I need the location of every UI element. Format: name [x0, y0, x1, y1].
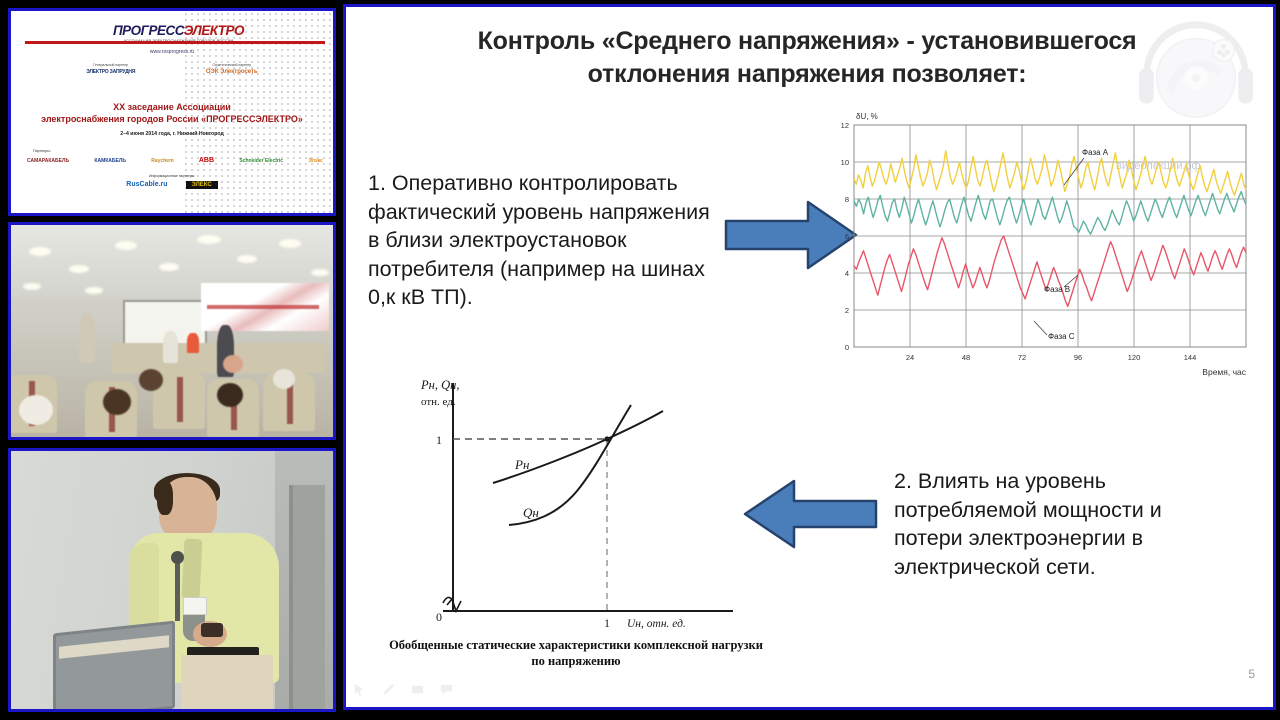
- general-partner-logo: ЭЛЕКТРО ЗАПРУДНЯ: [86, 69, 135, 75]
- hall-seating: [11, 359, 333, 437]
- svg-text:6: 6: [845, 232, 849, 241]
- annotation-phase-a: Фаза А: [1082, 148, 1109, 157]
- poster-website: www.rosprogress.ru: [11, 49, 333, 55]
- poster-info-partner-logos: RusCable.ru ЭЛЕКС: [11, 181, 333, 189]
- static-y-tick-1: 1: [436, 433, 442, 447]
- poster-partners-label: Партнеры:: [33, 149, 51, 153]
- partner-logo-4: Schneider Electric: [239, 158, 283, 164]
- info-partner-logo-1: ЭЛЕКС: [186, 181, 218, 189]
- screen-root: ПРОГРЕССЭЛЕКТРО АССОЦИАЦИЯ ЭЛЕКТРОСНАБЖЕ…: [0, 0, 1280, 720]
- poster-top-partners: Генеральный партнер ЭЛЕКТРО ЗАПРУДНЯ Стр…: [11, 63, 333, 75]
- strategic-partner-logo: ОЭК Электросеть: [206, 69, 258, 75]
- svg-text:96: 96: [1074, 353, 1082, 362]
- conference-hall-image: [11, 225, 333, 437]
- static-caption-line1: Обобщенные статические характеристики ко…: [389, 638, 763, 652]
- svg-text:4: 4: [845, 269, 849, 278]
- slide-title-line1: Контроль «Среднего напряжения» - установ…: [402, 25, 1212, 58]
- partner-logo-2: Raychem: [151, 158, 173, 164]
- svg-text:8: 8: [845, 195, 849, 204]
- thumbnail-speaker[interactable]: [8, 448, 336, 712]
- annotation-phase-c: Фаза С: [1048, 332, 1075, 341]
- curve-label-qn: Qн: [523, 505, 539, 520]
- strategic-partner-caption: Стратегический партнер: [206, 63, 258, 67]
- strategic-partner-block: Стратегический партнер ОЭК Электросеть: [206, 63, 258, 75]
- hall-banner: [201, 283, 329, 331]
- microphone-head: [171, 551, 184, 564]
- bullet-item-1: 1. Оперативно контролировать фактический…: [368, 169, 718, 312]
- podium: [53, 621, 175, 712]
- callout-icon[interactable]: [439, 682, 454, 697]
- speaker-door-frame: [289, 485, 325, 711]
- svg-text:144: 144: [1184, 353, 1197, 362]
- speaker-image: [11, 451, 333, 709]
- square-icon[interactable]: [410, 682, 425, 697]
- pen-icon[interactable]: [381, 682, 396, 697]
- poster-red-divider: [25, 41, 325, 44]
- general-partner-block: Генеральный партнер ЭЛЕКТРО ЗАПРУДНЯ: [86, 63, 135, 75]
- static-caption-line2: по напряжению: [531, 654, 621, 668]
- bullet-item-2: 2. Влиять на уровень потребляемой мощнос…: [894, 467, 1224, 581]
- partner-logo-0: САМАРАКАБЕЛЬ: [27, 158, 69, 164]
- annotation-phase-b: Фаза В: [1044, 285, 1070, 294]
- pointer-icon[interactable]: [352, 682, 367, 697]
- static-y-label-line2: отн. ед.: [421, 396, 456, 408]
- slide-title: Контроль «Среднего напряжения» - установ…: [402, 25, 1212, 91]
- general-partner-caption: Генеральный партнер: [86, 63, 135, 67]
- static-origin-label: 0: [436, 610, 442, 624]
- curve-label-pn: Рн: [514, 457, 529, 472]
- voltage-deviation-chart: видеолекции.рф 024681012 24487296120144 …: [816, 107, 1261, 382]
- microphone-stem: [175, 555, 180, 621]
- svg-text:48: 48: [962, 353, 970, 362]
- presentation-slide[interactable]: Контроль «Среднего напряжения» - установ…: [343, 4, 1276, 710]
- svg-text:24: 24: [906, 353, 914, 362]
- svg-text:10: 10: [841, 158, 849, 167]
- chart-x-tick-labels: 24487296120144: [906, 353, 1196, 362]
- page-number: 5: [1248, 667, 1255, 681]
- poster-partner-logos: САМАРАКАБЕЛЬ КАМКАБЕЛЬ Raychem ABB Schne…: [27, 157, 323, 164]
- svg-text:120: 120: [1128, 353, 1141, 362]
- chart-x-axis-label: Время, час: [1202, 367, 1246, 377]
- partner-logo-1: КАМКАБЕЛЬ: [94, 158, 126, 164]
- poster-title-line2: электроснабжения городов России «ПРОГРЕС…: [11, 113, 333, 125]
- chart-gridlines: [854, 125, 1246, 347]
- speaker-trousers: [181, 655, 273, 712]
- poster-info-partners-label: Информационные партнеры:: [11, 174, 333, 178]
- info-partner-logo-0: RusCable.ru: [126, 181, 167, 189]
- chart-y-tick-labels: 024681012: [841, 121, 849, 352]
- poster-title-line1: XX заседание Ассоциации: [11, 101, 333, 113]
- speaker-device: [201, 623, 223, 637]
- partner-logo-5: Элэкс: [308, 158, 323, 164]
- speaker-tie: [181, 539, 202, 600]
- poster-title: XX заседание Ассоциации электроснабжения…: [11, 101, 333, 125]
- chart-series-lines: [854, 151, 1246, 306]
- slide-title-line2: отклонения напряжения позволяет:: [402, 58, 1212, 91]
- svg-text:12: 12: [841, 121, 849, 130]
- poster-date-place: 2–4 июня 2014 года, г. Нижний Новгород: [11, 131, 333, 137]
- static-x-tick-1: 1: [604, 616, 610, 630]
- speaker-sideburn: [157, 481, 173, 515]
- thumbnail-conference-poster[interactable]: ПРОГРЕССЭЛЕКТРО АССОЦИАЦИЯ ЭЛЕКТРОСНАБЖЕ…: [8, 8, 336, 216]
- static-x-axis-label: Uн, отн. ед.: [627, 618, 686, 630]
- svg-text:0: 0: [845, 343, 849, 352]
- progresselectro-logo: ПРОГРЕССЭЛЕКТРО АССОЦИАЦИЯ ЭЛЕКТРОСНАБЖЕ…: [81, 24, 276, 43]
- poster-slide: ПРОГРЕССЭЛЕКТРО АССОЦИАЦИЯ ЭЛЕКТРОСНАБЖЕ…: [11, 11, 333, 213]
- logo-accent-text: ЭЛЕКТРО: [184, 23, 244, 38]
- logo-main-text: ПРОГРЕСС: [113, 23, 184, 38]
- static-y-label-line1: Рн, Qн,: [420, 378, 459, 392]
- speaker-badge: [183, 597, 207, 615]
- partner-logo-3: ABB: [199, 157, 214, 164]
- svg-text:2: 2: [845, 306, 849, 315]
- svg-text:72: 72: [1018, 353, 1026, 362]
- static-load-characteristic-chart: Рн, Qн, отн. ед. 1 0 1 Uн, отн. ед. Рн Q…: [381, 365, 771, 670]
- chart-y-axis-label: δU, %: [856, 112, 878, 121]
- annotation-toolbar[interactable]: [352, 682, 454, 697]
- thumbnail-conference-hall[interactable]: [8, 222, 336, 440]
